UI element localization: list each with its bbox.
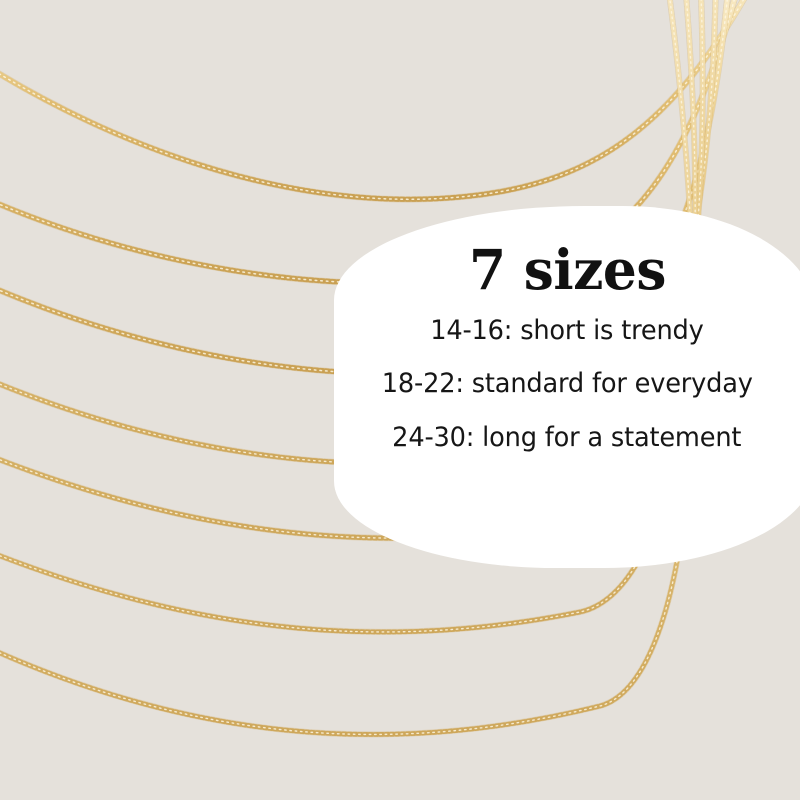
size-line-standard: 18-22: standard for everyday — [381, 370, 752, 398]
necklace-size-guide-graphic: 7 sizes 14-16: short is trendy 18-22: st… — [0, 0, 800, 800]
size-line-long: 24-30: long for a statement — [392, 424, 741, 452]
size-guide-card: 7 sizes 14-16: short is trendy 18-22: st… — [334, 206, 800, 568]
size-line-short: 14-16: short is trendy — [430, 317, 703, 345]
card-title: 7 sizes — [469, 242, 666, 297]
chain-strand-1 — [0, 0, 760, 199]
size-line-list: 14-16: short is trendy 18-22: standard f… — [334, 317, 800, 452]
